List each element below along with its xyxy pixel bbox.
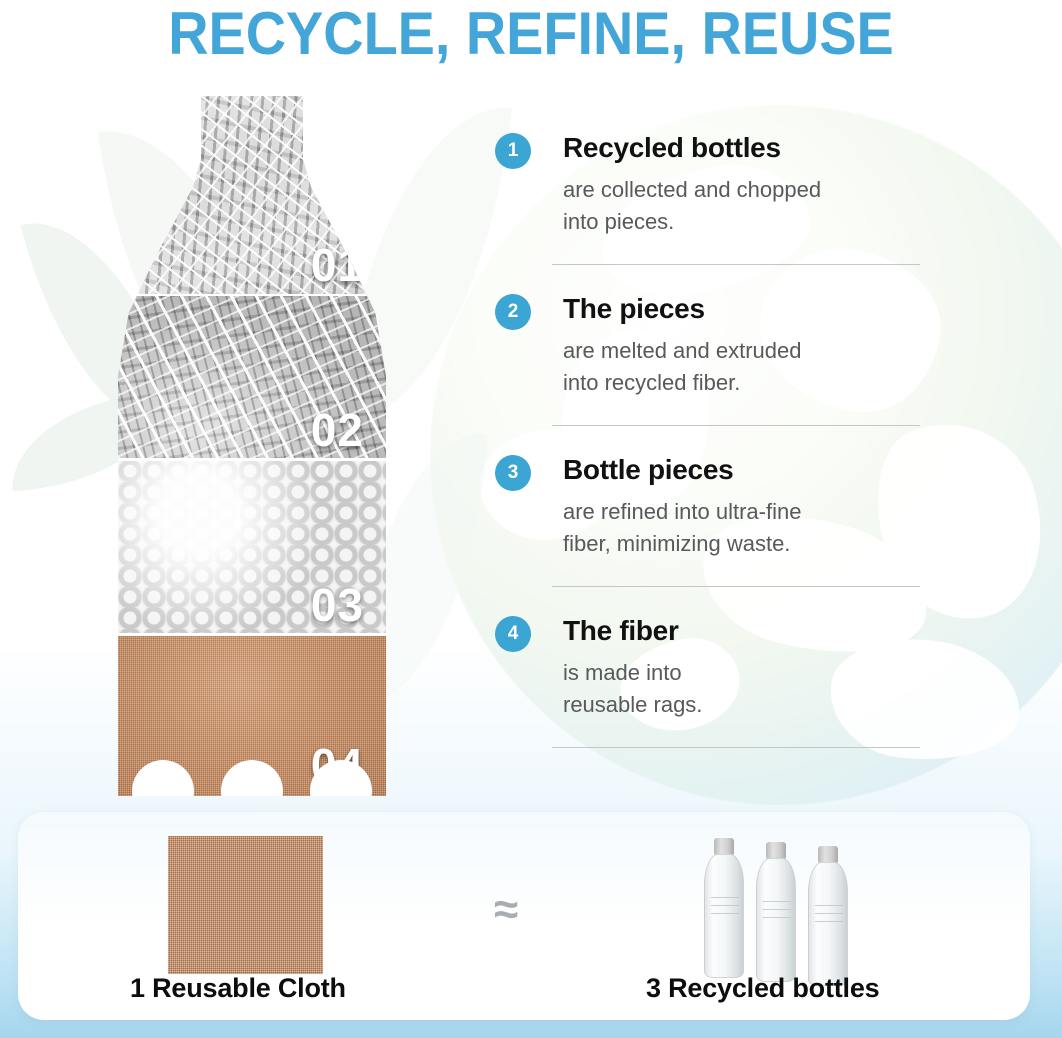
bottle-body: [808, 862, 848, 986]
bottle-diagram: 01 02 03 04: [118, 96, 386, 796]
bottle-icon: [704, 838, 744, 978]
step-title-3: Bottle pieces: [563, 452, 945, 488]
bottle-ribs: [815, 905, 843, 927]
step-title-1: Recycled bottles: [563, 130, 945, 166]
scallop-notch: [132, 760, 194, 796]
step-title-2: The pieces: [563, 291, 945, 327]
bottle-segment-04: 04: [118, 636, 386, 796]
bottle-ribs: [711, 897, 739, 919]
bottle-icon: [808, 846, 848, 986]
step-description-2: are melted and extruded into recycled fi…: [563, 335, 945, 399]
step-badge-4: 4: [495, 616, 531, 652]
bottle-icon: [756, 842, 796, 982]
bottle-segment-02: 02: [118, 296, 386, 461]
segment-number-02: 02: [311, 403, 364, 457]
bottle-body: [756, 858, 796, 982]
reusable-cloth-swatch: [168, 836, 323, 974]
bottle-cap-icon: [766, 842, 786, 859]
bottle-silhouette: 01 02 03 04: [118, 96, 386, 796]
comparison-panel: ≈: [18, 812, 1030, 1020]
step-title-4: The fiber: [563, 613, 945, 649]
step-description-1: are collected and chopped into pieces.: [563, 174, 945, 238]
step-description-3: are refined into ultra-fine fiber, minim…: [563, 496, 945, 560]
step-item-3: 3 Bottle pieces are refined into ultra-f…: [495, 452, 945, 564]
step-divider-2: [552, 425, 920, 426]
bottle-cap-icon: [714, 838, 734, 855]
step-item-4: 4 The fiber is made into reusable rags.: [495, 613, 945, 725]
segment-number-01: 01: [311, 238, 364, 292]
infographic-page: RECYCLE, REFINE, REUSE 01 02 03 04: [0, 0, 1062, 1038]
approximately-equal-icon: ≈: [494, 888, 518, 932]
steps-list: 1 Recycled bottles are collected and cho…: [495, 130, 945, 748]
step-badge-1: 1: [495, 133, 531, 169]
step-divider-4: [552, 747, 920, 748]
segment-number-03: 03: [311, 578, 364, 632]
bottle-cap-icon: [818, 846, 838, 863]
bottle-ribs: [763, 901, 791, 923]
step-badge-2: 2: [495, 294, 531, 330]
bottle-segment-03: 03: [118, 461, 386, 636]
step-item-1: 1 Recycled bottles are collected and cho…: [495, 130, 945, 242]
step-item-2: 2 The pieces are melted and extruded int…: [495, 291, 945, 403]
recycled-bottles-group: [704, 828, 854, 978]
step-divider-3: [552, 586, 920, 587]
page-title: RECYCLE, REFINE, REUSE: [37, 2, 1025, 66]
bottle-segment-01: 01: [118, 96, 386, 296]
step-description-4: is made into reusable rags.: [563, 657, 945, 721]
step-badge-3: 3: [495, 455, 531, 491]
step-divider-1: [552, 264, 920, 265]
bottle-body: [704, 854, 744, 978]
scallop-notch: [221, 760, 283, 796]
cloth-caption: 1 Reusable Cloth: [130, 973, 346, 1004]
bottles-caption: 3 Recycled bottles: [646, 973, 880, 1004]
